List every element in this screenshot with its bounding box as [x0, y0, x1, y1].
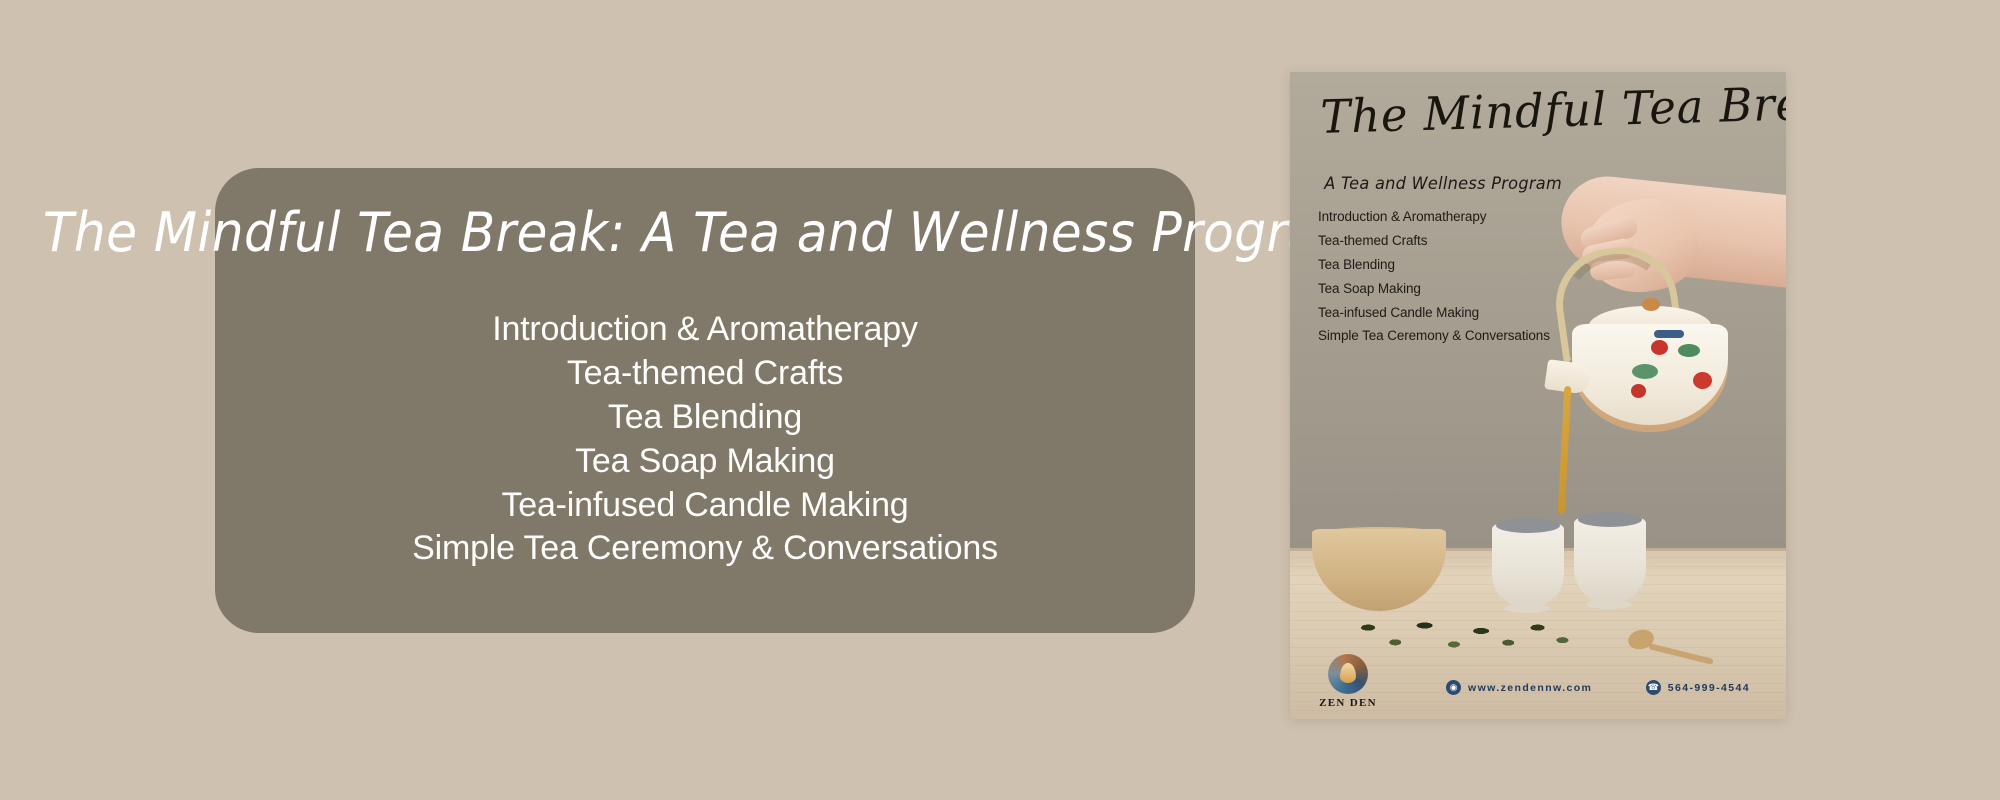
program-list: Introduction & Aromatherapy Tea-themed C… [412, 308, 998, 571]
spiral-flame-icon [1328, 654, 1368, 694]
logo-label: ZEN DEN [1316, 697, 1380, 709]
floral-motif-icon [1632, 364, 1658, 379]
poster-list-item: Tea-themed Crafts [1318, 229, 1550, 253]
program-card: The Mindful Tea Break: A Tea and Wellnes… [215, 168, 1195, 633]
list-item: Introduction & Aromatherapy [492, 308, 918, 352]
floral-motif-icon [1654, 330, 1684, 338]
cup-rim [1496, 518, 1559, 533]
poster-list-item: Tea Blending [1318, 253, 1550, 277]
zen-den-logo: ZEN DEN [1316, 654, 1380, 709]
poster-artwork: The Mindful Tea Break A Tea and Wellness… [1290, 72, 1786, 719]
website-text: www.zendennw.com [1468, 682, 1592, 694]
teapot-knob-icon [1642, 298, 1660, 311]
floral-motif-icon [1651, 340, 1668, 355]
cup-rim [1578, 512, 1641, 527]
cup-foot [1504, 604, 1550, 613]
phone-contact: ☎ 564-999-4544 [1646, 680, 1750, 695]
poster-footer: ZEN DEN ◉ www.zendennw.com ☎ 564-999-454… [1290, 653, 1786, 719]
cup-foot [1586, 600, 1632, 609]
list-item: Tea Blending [608, 396, 802, 440]
list-item: Simple Tea Ceremony & Conversations [412, 527, 998, 571]
poster-subtitle: A Tea and Wellness Program [1324, 174, 1562, 194]
list-item: Tea-infused Candle Making [501, 484, 908, 528]
poster-image: The Mindful Tea Break A Tea and Wellness… [1290, 72, 1786, 719]
poster-list-item: Tea-infused Candle Making [1318, 301, 1550, 325]
floral-motif-icon [1693, 372, 1712, 389]
list-item: Tea-themed Crafts [567, 352, 843, 396]
globe-icon: ◉ [1446, 680, 1461, 695]
teacup-icon [1574, 517, 1646, 603]
poster-list-item: Simple Tea Ceremony & Conversations [1318, 324, 1550, 348]
teacup-icon [1492, 523, 1564, 607]
page-canvas: The Mindful Tea Break: A Tea and Wellnes… [0, 0, 2000, 800]
website-contact: ◉ www.zendennw.com [1446, 680, 1592, 695]
poster-program-list: Introduction & Aromatherapy Tea-themed C… [1318, 205, 1550, 348]
phone-text: 564-999-4544 [1668, 682, 1750, 694]
floral-motif-icon [1678, 344, 1700, 357]
page-title: The Mindful Tea Break: A Tea and Wellnes… [42, 202, 1367, 264]
poster-title: The Mindful Tea Break [1320, 82, 1738, 140]
poster-list-item: Introduction & Aromatherapy [1318, 205, 1550, 229]
list-item: Tea Soap Making [575, 440, 835, 484]
floral-motif-icon [1631, 384, 1646, 398]
phone-icon: ☎ [1646, 680, 1661, 695]
scattered-tea-leaves-icon [1350, 615, 1576, 657]
poster-list-item: Tea Soap Making [1318, 277, 1550, 301]
